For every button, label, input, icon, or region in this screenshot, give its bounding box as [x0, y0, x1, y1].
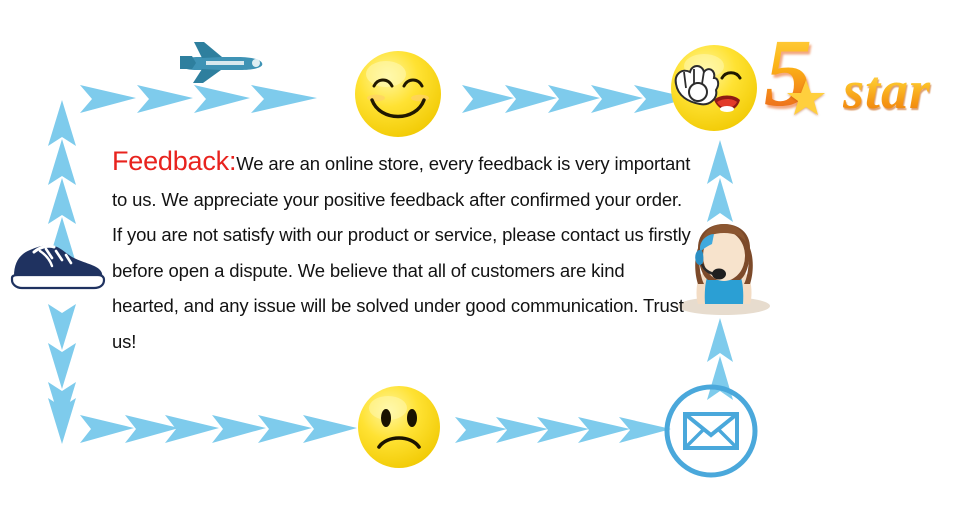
feedback-banner: 5 star [0, 0, 961, 511]
ok-hand-smiley-icon [668, 42, 760, 139]
sneaker-icon [6, 232, 106, 299]
five-star-badge: 5 star [668, 36, 958, 136]
envelope-icon [662, 382, 760, 485]
airplane-icon [176, 38, 268, 91]
feedback-text-block: Feedback:We are an online store, every f… [112, 144, 692, 359]
star-icon [786, 78, 826, 123]
feedback-body: We are an online store, every feedback i… [112, 153, 691, 352]
badge-word: star [843, 60, 931, 120]
feedback-heading: Feedback: [112, 146, 236, 176]
happy-smiley-icon [352, 48, 444, 145]
sad-smiley-icon [355, 383, 443, 476]
